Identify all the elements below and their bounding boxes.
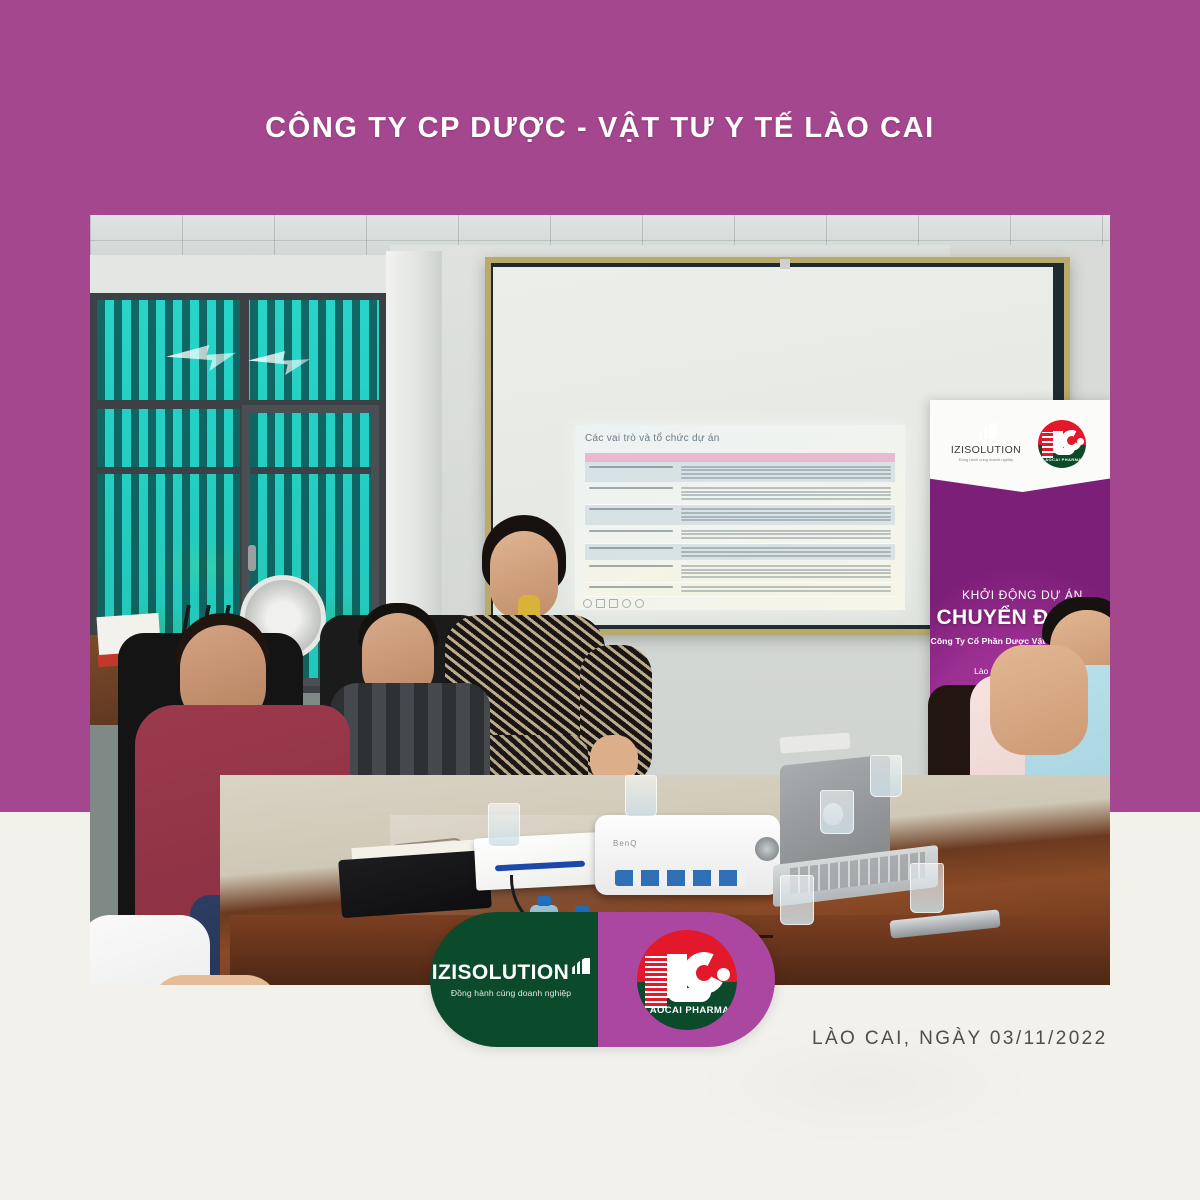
izisolution-panel: IZISOLUTION Đồng hành cùng doanh nghiệp — [430, 912, 598, 1047]
attendee-blue-polo-arm — [990, 645, 1088, 755]
izisolution-tagline: Đồng hành cùng doanh nghiệp — [432, 988, 590, 998]
slide-table-row — [585, 505, 895, 526]
bar-chart-mark-icon — [572, 958, 590, 974]
banner-izisolution-tagline: Đồng hành cùng doanh nghiệp — [944, 457, 1028, 462]
projected-slide: Các vai trò và tổ chức dự án — [575, 425, 905, 610]
bar-chart-mark-icon — [979, 423, 997, 439]
slide-table — [585, 453, 895, 604]
date-caption: LÀO CAI, NGÀY 03/11/2022 — [812, 1028, 1108, 1050]
drinking-glass — [625, 775, 657, 817]
meeting-photo: Các vai trò và tổ chức dự án — [90, 215, 1110, 985]
projector-lens — [755, 837, 779, 861]
page-title: CÔNG TY CP DƯỢC - VẬT TƯ Y TẾ LÀO CAI — [0, 112, 1200, 145]
slide-table-row — [585, 462, 895, 483]
logo-dot — [717, 968, 730, 981]
banner-laocai-name: LAOCAI PHARMA — [1038, 457, 1086, 462]
slide-table-row — [585, 583, 895, 597]
slide-table-row — [585, 483, 895, 504]
circle-icon — [622, 599, 631, 608]
projector-brand-label: BenQ — [613, 839, 637, 848]
record-icon — [583, 599, 592, 608]
izisolution-name: IZISOLUTION — [432, 961, 569, 985]
banner-izisolution-logo: IZISOLUTION Đồng hành cùng doanh nghiệp — [944, 426, 1028, 462]
izisolution-logo: IZISOLUTION Đồng hành cùng doanh nghiệp — [432, 961, 596, 998]
document-folder — [338, 850, 492, 918]
slide-table-header — [585, 453, 895, 462]
drinking-glass — [820, 790, 854, 834]
screen-clip — [780, 259, 790, 269]
laocai-panel: LAOCAI PHARMA — [598, 912, 775, 1047]
laocai-logo-icon: LAOCAI PHARMA — [637, 930, 737, 1030]
logo-badge: IZISOLUTION Đồng hành cùng doanh nghiệp … — [430, 912, 775, 1047]
banner-izisolution-name: IZISOLUTION — [944, 444, 1028, 456]
door-handle — [248, 545, 256, 571]
dot-icon — [635, 599, 644, 608]
banner-laocai-logo: LAOCAI PHARMA — [1038, 420, 1094, 470]
logo-stripes — [645, 956, 667, 1008]
slide-control-icons — [583, 599, 644, 608]
drinking-glass — [780, 875, 814, 925]
drinking-glass — [488, 803, 520, 847]
drinking-glass — [910, 863, 944, 913]
laocai-name: LAOCAI PHARMA — [637, 1005, 737, 1016]
grid-icon — [609, 599, 618, 608]
slide-table-row — [585, 561, 895, 582]
slide-table-row — [585, 544, 895, 562]
slide-table-row — [585, 526, 895, 544]
drinking-glass — [870, 755, 902, 797]
pen-icon — [596, 599, 605, 608]
poster-canvas: CÔNG TY CP DƯỢC - VẬT TƯ Y TẾ LÀO CAI Cá… — [0, 0, 1200, 1200]
slide-title: Các vai trò và tổ chức dự án — [585, 433, 720, 444]
